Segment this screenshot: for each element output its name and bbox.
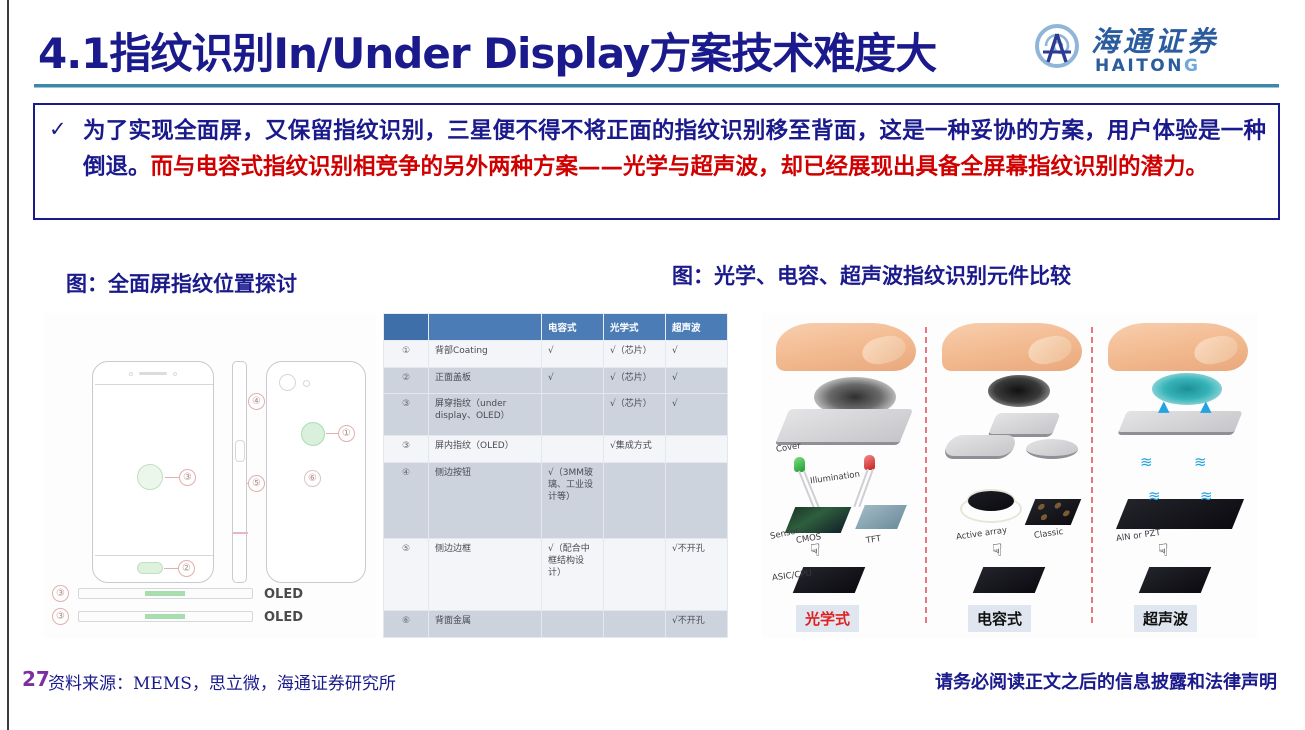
capacitive-cover-plate-lower	[941, 435, 1019, 459]
source-note: 资料来源：MEMS，思立微，海通证券研究所	[48, 669, 396, 694]
oled-label-2: OLED	[264, 610, 303, 625]
callout-text-red: 而与电容式指纹识别相竞争的另外两种方案——光学与超声波，却已经展现出具备全屏幕指…	[151, 154, 1209, 180]
technology-comparison-table-figure: 电容式 光学式 超声波 ① 背部Coating √ √（芯片） √ ② 正面盖板…	[383, 313, 728, 638]
ultrasound-wave-icon: ≋	[1194, 455, 1207, 470]
oled-active-zone-1	[145, 591, 185, 596]
ultrasound-wave-icon: ▲	[1158, 399, 1170, 414]
sensor-dot-icon	[129, 372, 133, 376]
logo-chinese-text: 海通证券	[1091, 20, 1219, 60]
row-num: ①	[384, 341, 429, 368]
table-row: ③ 屏内指纹（OLED） √集成方式	[384, 436, 728, 463]
logo-en-left: HAITON	[1095, 56, 1184, 76]
ultrasound-wave-icon: ≋	[1140, 455, 1153, 470]
row-capacitive	[542, 436, 604, 463]
phone-front-view: ③ ②	[92, 361, 214, 583]
classic-sensor-chip	[1025, 499, 1082, 525]
oled-row-1-marker: ③	[52, 585, 69, 602]
phone-side-view	[232, 361, 247, 583]
table-row: ⑥ 背面金属 √不开孔	[384, 611, 728, 638]
table-header-row: 电容式 光学式 超声波	[384, 314, 728, 341]
row-capacitive	[542, 394, 604, 436]
row-optical	[604, 539, 666, 611]
in-display-fingerprint-zone	[137, 464, 163, 490]
marker-5-side-frame: ⑤	[248, 475, 265, 492]
header-col-ultrasonic: 超声波	[666, 314, 728, 341]
title-underline-secondary	[34, 87, 1279, 88]
row-num: ③	[384, 394, 429, 436]
fingernail-icon	[1026, 332, 1075, 368]
row-capacitive: √	[542, 341, 604, 368]
row-ultrasonic	[666, 463, 728, 539]
row-location: 背部Coating	[429, 341, 542, 368]
sensor-stack-comparison-figure: Cover Illumination Sensor CMOS TFT ☟ ASI…	[762, 313, 1257, 638]
fingertip-illustration	[942, 323, 1082, 371]
callout-text: 为了实现全面屏，又保留指纹识别，三星便不得不将正面的指纹识别移至背面，这是一种妥…	[83, 113, 1266, 185]
table-body: ① 背部Coating √ √（芯片） √ ② 正面盖板 √ √（芯片） √ ③…	[384, 341, 728, 638]
row-optical	[604, 611, 666, 638]
haitong-emblem-icon	[1033, 22, 1081, 70]
earpiece-speaker-icon	[139, 372, 167, 375]
label-active-array: Active array	[956, 525, 1008, 542]
pointing-hand-icon: ☟	[992, 541, 1002, 561]
marker-2-home: ②	[178, 560, 195, 577]
panel-divider-1	[925, 327, 927, 623]
capacitive-round-plate	[1026, 439, 1078, 459]
pointing-hand-icon: ☟	[810, 541, 820, 561]
aln-pzt-chip	[1116, 499, 1244, 529]
row-optical: √（芯片）	[604, 367, 666, 394]
row-location: 屏内指纹（OLED）	[429, 436, 542, 463]
pointing-hand-icon: ☟	[1158, 541, 1168, 561]
label-classic: Classic	[1033, 527, 1064, 541]
phone-position-diagram: ③ ② ④ ⑤ ① ⑥ ③ OLED ③ OLED	[44, 313, 376, 638]
row-num: ④	[384, 463, 429, 539]
ultrasonic-base-chip	[1139, 567, 1212, 593]
label-tft: TFT	[865, 534, 882, 546]
row-capacitive	[542, 611, 604, 638]
oled-bar-1	[78, 588, 253, 599]
fingernail-icon	[1192, 332, 1241, 368]
oled-row-2-marker: ③	[52, 608, 69, 625]
header-col-location	[429, 314, 542, 341]
marker-6-rear-metal: ⑥	[304, 470, 321, 487]
row-location: 背面金属	[429, 611, 542, 638]
capacitive-cover-plate-upper	[987, 413, 1061, 437]
logo-english-text: HAITONG	[1095, 56, 1200, 76]
ultrasound-wave-icon: ▲	[1200, 399, 1212, 414]
row-num: ⑤	[384, 539, 429, 611]
logo-en-last: G	[1184, 56, 1200, 76]
row-ultrasonic: √不开孔	[666, 539, 728, 611]
oled-active-zone-2	[145, 614, 185, 619]
ultrasonic-cover-plate	[1117, 411, 1243, 435]
row-num: ③	[384, 436, 429, 463]
table-row: ③ 屏穿指纹（under display、OLED） √（芯片） √	[384, 394, 728, 436]
row-num: ⑥	[384, 611, 429, 638]
ultrasound-wave-icon: ≋	[1200, 489, 1213, 504]
row-ultrasonic: √	[666, 367, 728, 394]
optical-sensor-panel: Cover Illumination Sensor CMOS TFT ☟ ASI…	[768, 313, 923, 638]
page-number: 27	[22, 667, 50, 691]
row-capacitive: √（配合中框结构设计）	[542, 539, 604, 611]
slide-footer: 27 资料来源：MEMS，思立微，海通证券研究所 请务必阅读正文之后的信息披露和…	[0, 666, 1305, 706]
row-ultrasonic: √	[666, 341, 728, 368]
left-figure-caption: 图：全面屏指纹位置探讨	[66, 268, 297, 298]
brand-logo: 海通证券 HAITONG	[1033, 18, 1283, 80]
fingertip-illustration	[776, 323, 916, 371]
row-optical: √集成方式	[604, 436, 666, 463]
home-button-fingerprint	[137, 562, 163, 574]
header-col-capacitive: 电容式	[542, 314, 604, 341]
fingertip-illustration	[1108, 323, 1248, 371]
green-led-icon	[794, 457, 805, 472]
row-ultrasonic: √不开孔	[666, 611, 728, 638]
lead-line-3	[165, 477, 179, 478]
oled-bar-2	[78, 611, 253, 622]
lead-line-2	[164, 568, 178, 569]
row-num: ②	[384, 367, 429, 394]
tft-sensor-chip	[855, 505, 907, 529]
lead-line-1	[326, 433, 338, 434]
header-col-num	[384, 314, 429, 341]
row-capacitive: √	[542, 367, 604, 394]
oled-label-1: OLED	[264, 587, 303, 602]
active-array-disc	[968, 491, 1014, 511]
table-row: ④ 侧边按钮 √（3MM玻璃、工业设计等）	[384, 463, 728, 539]
table-row: ① 背部Coating √ √（芯片） √	[384, 341, 728, 368]
ultrasound-wave-icon: ≋	[1148, 489, 1161, 504]
row-optical	[604, 463, 666, 539]
table-row: ⑤ 侧边边框 √（配合中框结构设计） √不开孔	[384, 539, 728, 611]
row-ultrasonic: √	[666, 394, 728, 436]
table-row: ② 正面盖板 √ √（芯片） √	[384, 367, 728, 394]
header-col-optical: 光学式	[604, 314, 666, 341]
rear-fingerprint-sensor	[301, 422, 325, 446]
label-aln-or-pzt: AlN or PZT	[1116, 528, 1162, 544]
marker-4-side-button: ④	[248, 393, 265, 410]
capacitive-base-chip	[973, 567, 1046, 593]
red-led-icon	[864, 455, 875, 470]
ultrasonic-tag: 超声波	[1134, 605, 1197, 632]
right-figure-caption: 图：光学、电容、超声波指纹识别元件比较	[672, 260, 1071, 290]
row-capacitive: √（3MM玻璃、工业设计等）	[542, 463, 604, 539]
slide-header: 4.1指纹识别In/Under Display方案技术难度大 海通证券 HAIT…	[0, 0, 1305, 95]
phone-back-view: ① ⑥	[266, 361, 366, 583]
page-title: 4.1指纹识别In/Under Display方案技术难度大	[38, 20, 936, 81]
row-location: 侧边按钮	[429, 463, 542, 539]
label-illumination: Illumination	[810, 470, 861, 487]
ultrasonic-sensor-panel: ▲ ▲ ≋ ≋ ≋ ≋ AlN or PZT ☟ 超声波	[1100, 313, 1255, 638]
row-ultrasonic	[666, 436, 728, 463]
row-optical: √（芯片）	[604, 394, 666, 436]
row-optical: √（芯片）	[604, 341, 666, 368]
panel-divider-2	[1091, 327, 1093, 623]
left-accent-rule	[7, 0, 9, 730]
technology-comparison-table: 电容式 光学式 超声波 ① 背部Coating √ √（芯片） √ ② 正面盖板…	[383, 313, 728, 638]
fingernail-icon	[860, 332, 909, 368]
row-location: 侧边边框	[429, 539, 542, 611]
side-frame-tick	[233, 532, 248, 534]
rear-camera-icon	[279, 374, 296, 391]
legal-disclaimer: 请务必阅读正文之后的信息披露和法律声明	[935, 668, 1277, 694]
row-location: 屏穿指纹（under display、OLED）	[429, 394, 542, 436]
side-button	[235, 440, 245, 462]
row-location: 正面盖板	[429, 367, 542, 394]
rear-flash-icon	[303, 380, 310, 387]
marker-3-front: ③	[179, 469, 196, 486]
callout-box: ✓ 为了实现全面屏，又保留指纹识别，三星便不得不将正面的指纹识别移至背面，这是一…	[33, 103, 1280, 220]
optical-tag: 光学式	[796, 605, 859, 632]
check-icon: ✓	[49, 117, 67, 141]
capacitive-sensor-panel: Active array Classic ☟ 电容式	[934, 313, 1089, 638]
cover-glass-plate	[775, 409, 914, 445]
fingerprint-pattern-dark	[988, 375, 1050, 407]
capacitive-tag: 电容式	[968, 605, 1031, 632]
marker-1-rear-fp: ①	[338, 425, 355, 442]
camera-dot-icon	[173, 372, 177, 376]
